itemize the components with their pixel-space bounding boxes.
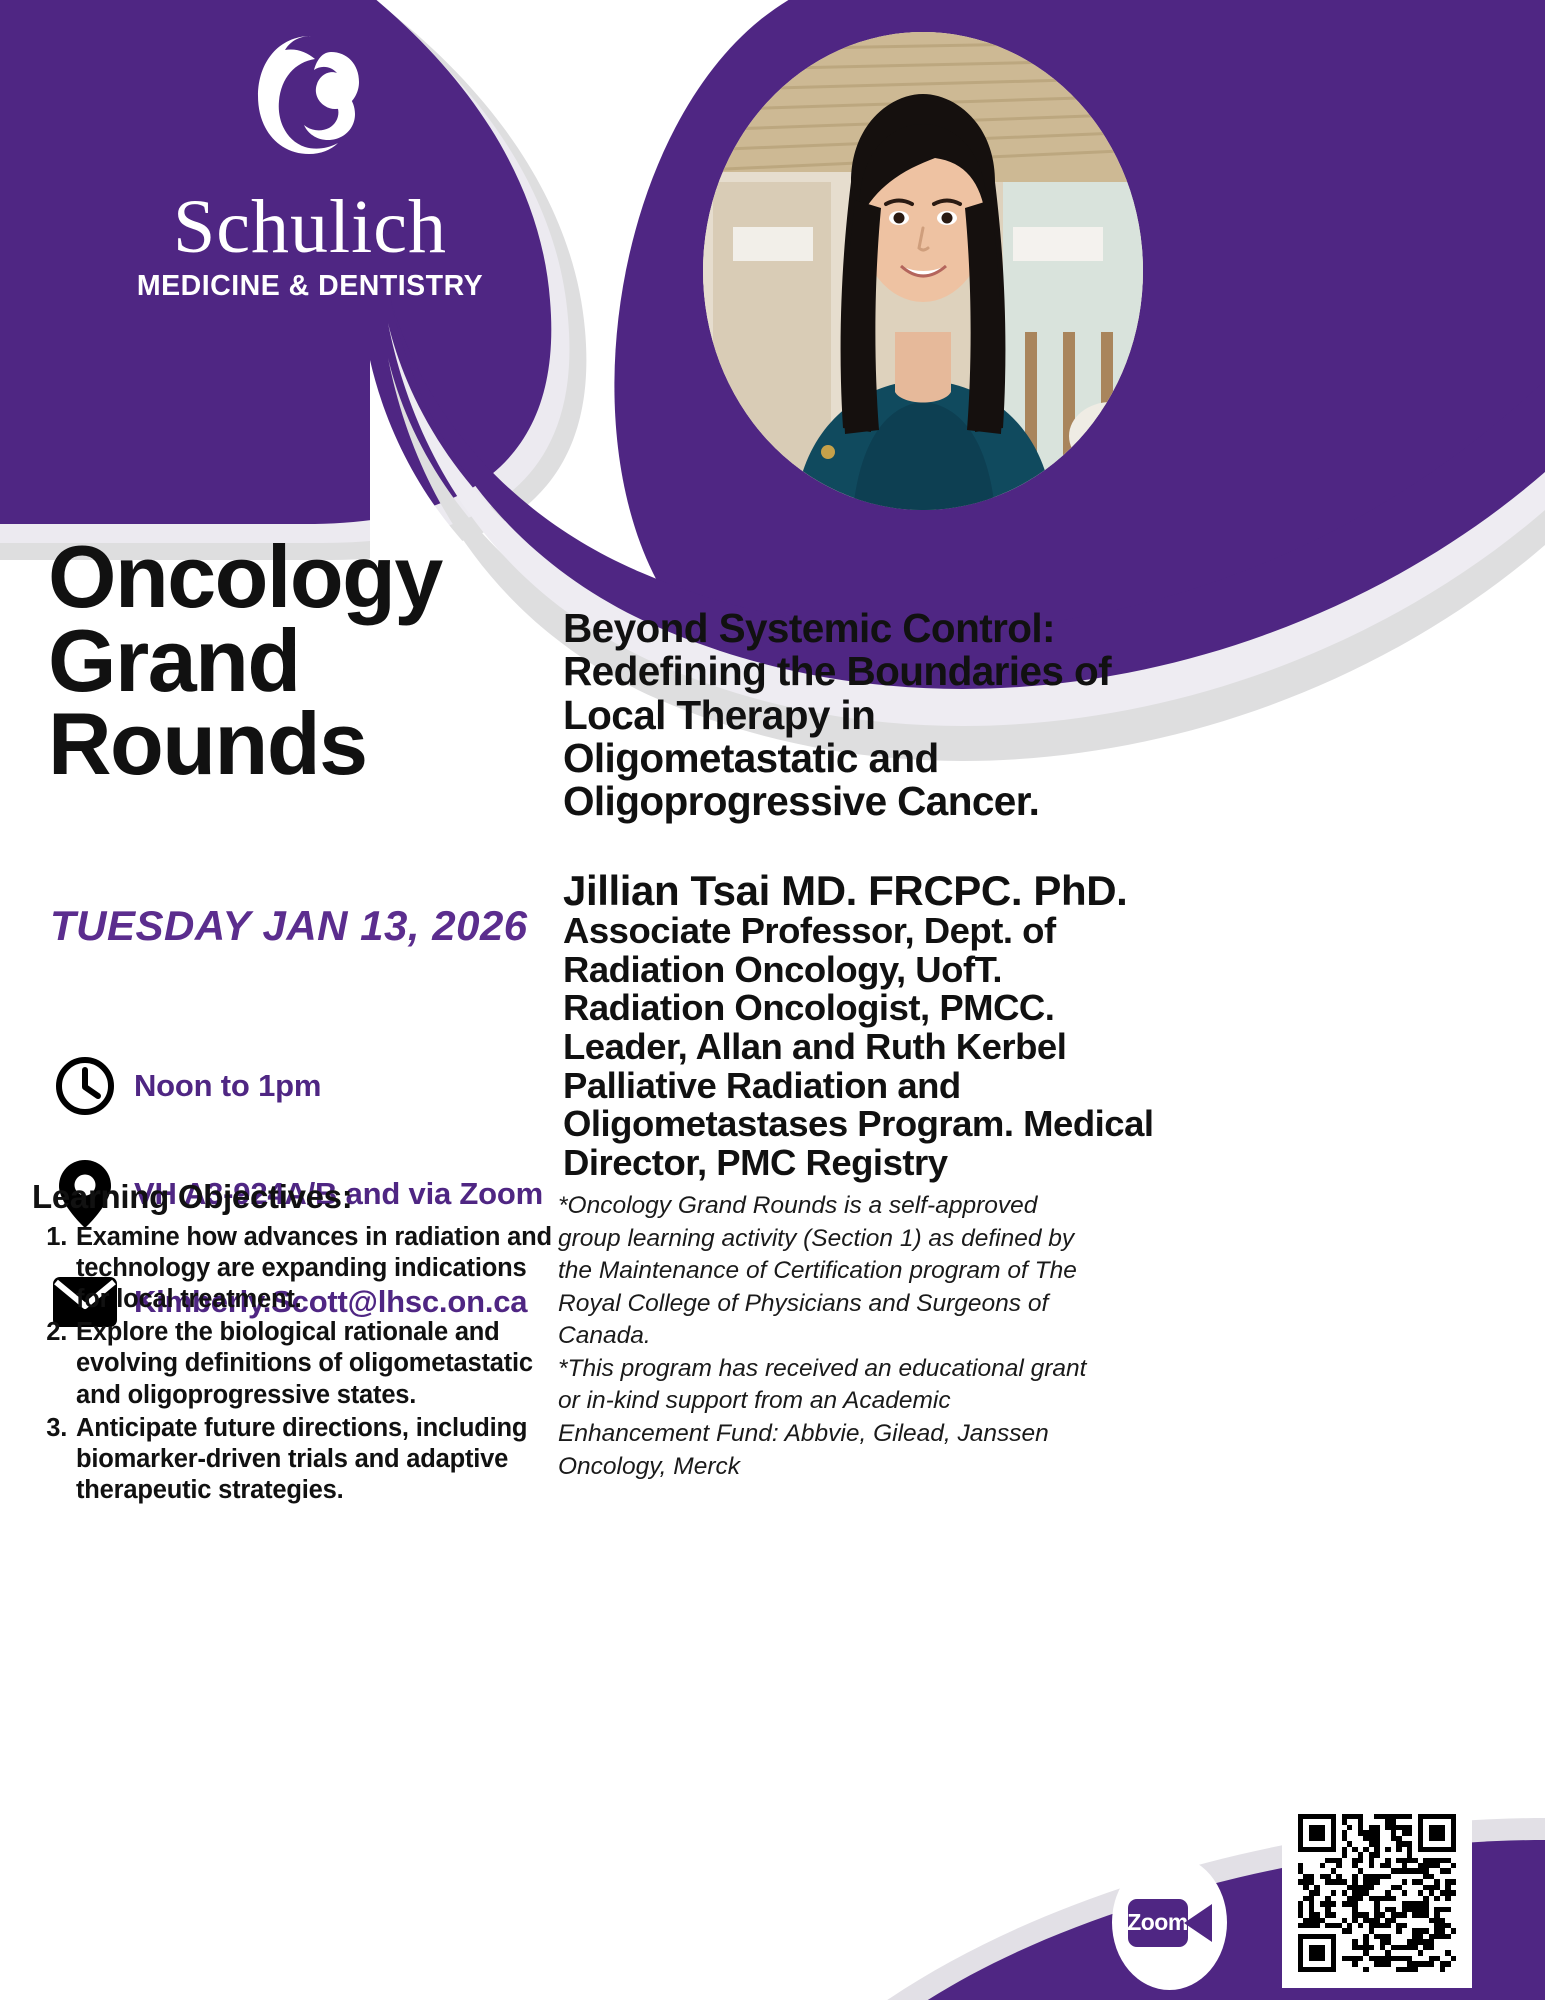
learning-objectives: Learning Objectives: Examine how advance… (32, 1178, 562, 1508)
learning-objectives-heading: Learning Objectives: (32, 1178, 562, 1216)
speaker-name: Jillian Tsai MD. FRCPC. PhD. (563, 867, 1203, 915)
accreditation-disclaimer: *Oncology Grand Rounds is a self-approve… (558, 1190, 1103, 1483)
qr-code-icon[interactable] (1282, 1798, 1472, 1988)
schulich-logo: Schulich MEDICINE & DENTISTRY (110, 30, 510, 303)
logo-subtitle: MEDICINE & DENTISTRY (110, 270, 510, 303)
title-line-1: Oncology (48, 535, 568, 619)
headshot-illustration (703, 32, 1143, 510)
list-item: Explore the biological rationale and evo… (74, 1317, 562, 1410)
speaker-credentials: Associate Professor, Dept. of Radiation … (563, 912, 1163, 1183)
title-line-2: Grand (48, 619, 568, 703)
event-date: TUESDAY JAN 13, 2026 (50, 902, 528, 950)
event-poster: Schulich MEDICINE & DENTISTRY (0, 0, 1545, 2000)
list-item: Anticipate future directions, including … (74, 1413, 562, 1506)
zoom-lens-shape (1184, 1904, 1212, 1942)
detail-row-time: Noon to 1pm (46, 1040, 566, 1132)
title-line-3: Rounds (48, 702, 568, 786)
zoom-badge-label: Zoom (1128, 1899, 1188, 1947)
learning-objectives-list: Examine how advances in radiation and te… (32, 1222, 562, 1506)
speaker-headshot (703, 32, 1143, 510)
logo-wordmark: Schulich (110, 190, 510, 264)
zoom-video-camera-icon[interactable]: Zoom (1112, 1855, 1227, 1990)
qr-code-modules (1298, 1814, 1456, 1972)
detail-label-time: Noon to 1pm (124, 1068, 321, 1104)
clock-icon (46, 1055, 124, 1117)
talk-title: Beyond Systemic Control: Redefining the … (563, 607, 1163, 824)
page-title: Oncology Grand Rounds (48, 535, 568, 786)
list-item: Examine how advances in radiation and te… (74, 1222, 562, 1315)
schulich-crest-icon (235, 30, 385, 180)
